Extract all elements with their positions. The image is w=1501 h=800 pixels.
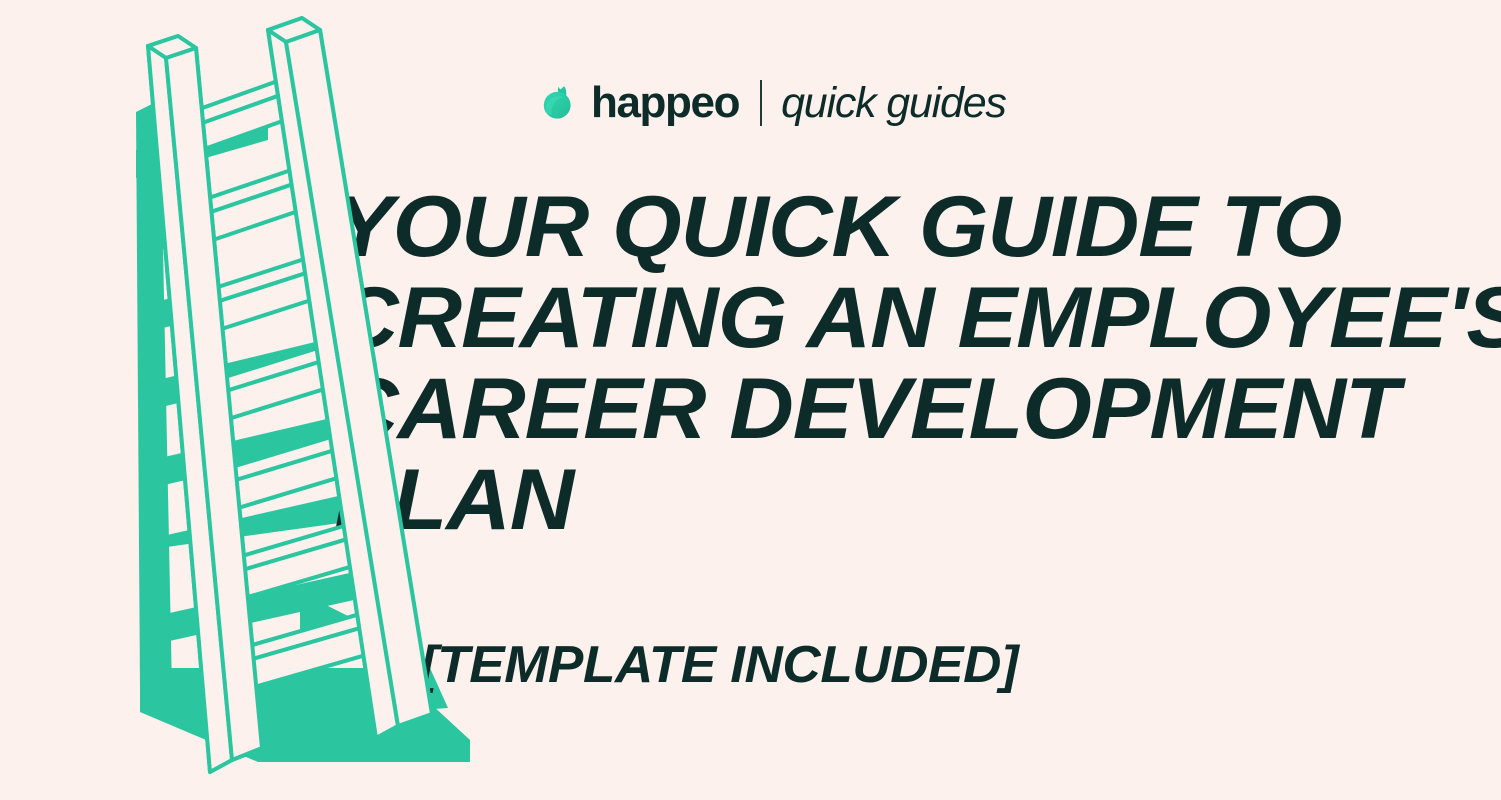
headline-line-2: CREATING AN EMPLOYEE'S [334, 273, 1499, 364]
subtitle-line-1: [TEMPLATE INCLUDED] [420, 636, 1018, 694]
brand-divider [760, 80, 762, 126]
brand-subtitle: quick guides [781, 82, 1006, 125]
brand-lockup: happeo quick guides [538, 72, 1006, 134]
subtitle: [TEMPLATE INCLUDED] [420, 636, 1007, 694]
poster-canvas: happeo quick guides YOUR QUICK GUIDE TO … [0, 0, 1501, 800]
page-title: YOUR QUICK GUIDE TO CREATING AN EMPLOYEE… [334, 182, 1454, 546]
happeo-leaf-circle-icon [538, 83, 578, 123]
ladder-left-rail-foreground [148, 36, 262, 772]
headline-line-3: CAREER DEVELOPMENT [334, 364, 1499, 455]
headline-line-4: PLAN [334, 455, 1499, 546]
brand-name: happeo [591, 81, 739, 125]
ladder-left-rail [148, 36, 262, 772]
headline-line-1: YOUR QUICK GUIDE TO [334, 182, 1499, 273]
